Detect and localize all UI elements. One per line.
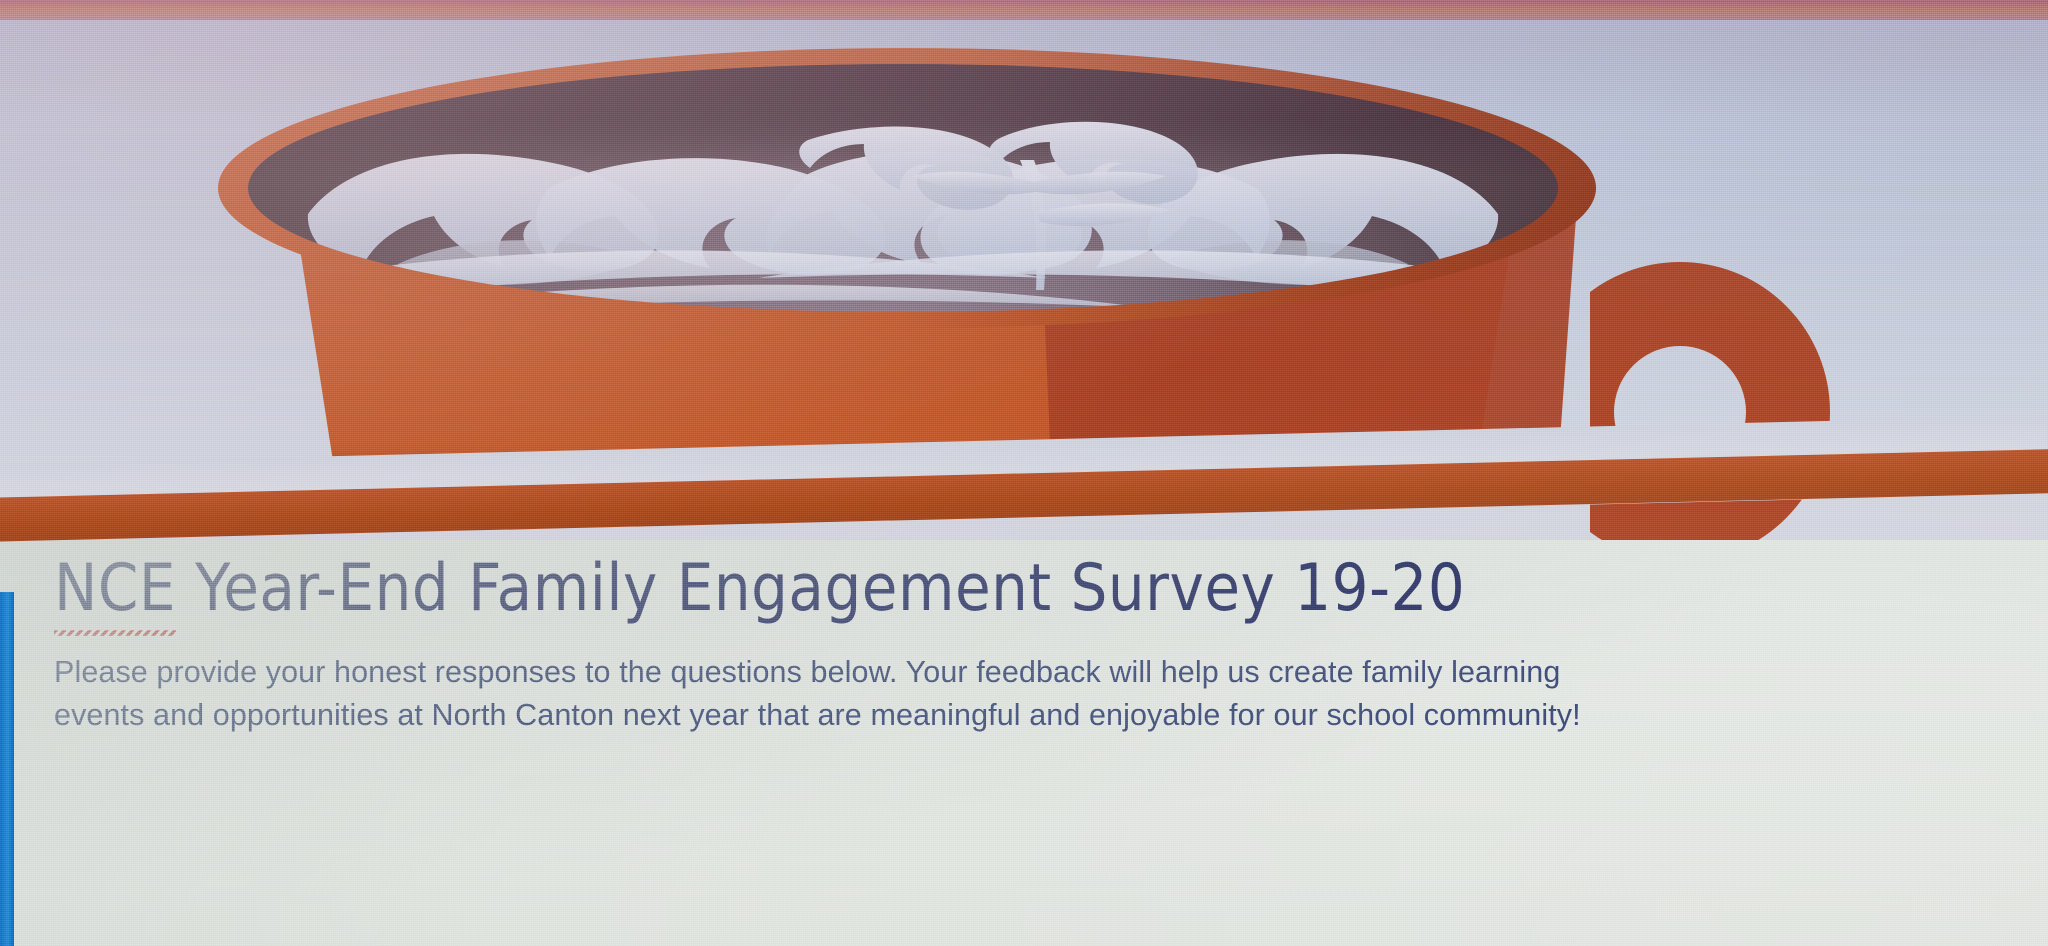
form-description[interactable]: Please provide your honest responses to … xyxy=(54,615,2044,738)
latte-art-rosetta-icon xyxy=(248,64,1558,312)
form-title-card: NCE Year-End Family Engagement Survey 19… xyxy=(0,540,2048,946)
form-description-line-2: events and opportunities at North Canton… xyxy=(54,694,2044,737)
coffee-surface xyxy=(248,64,1558,312)
form-title[interactable]: NCE Year-End Family Engagement Survey 19… xyxy=(54,554,1465,622)
form-title-rest: Year-End Family Engagement Survey 19-20 xyxy=(176,550,1465,626)
form-card-content: NCE Year-End Family Engagement Survey 19… xyxy=(54,540,2048,946)
form-accent-strip xyxy=(0,592,14,946)
screen: NCE Year-End Family Engagement Survey 19… xyxy=(0,0,2048,946)
form-description-line-1: Please provide your honest responses to … xyxy=(54,655,1560,689)
photo-top-bleed-strip xyxy=(0,0,2048,20)
coffee-cup-handle-icon xyxy=(1530,262,1830,562)
form-title-prefix: NCE xyxy=(54,550,176,626)
